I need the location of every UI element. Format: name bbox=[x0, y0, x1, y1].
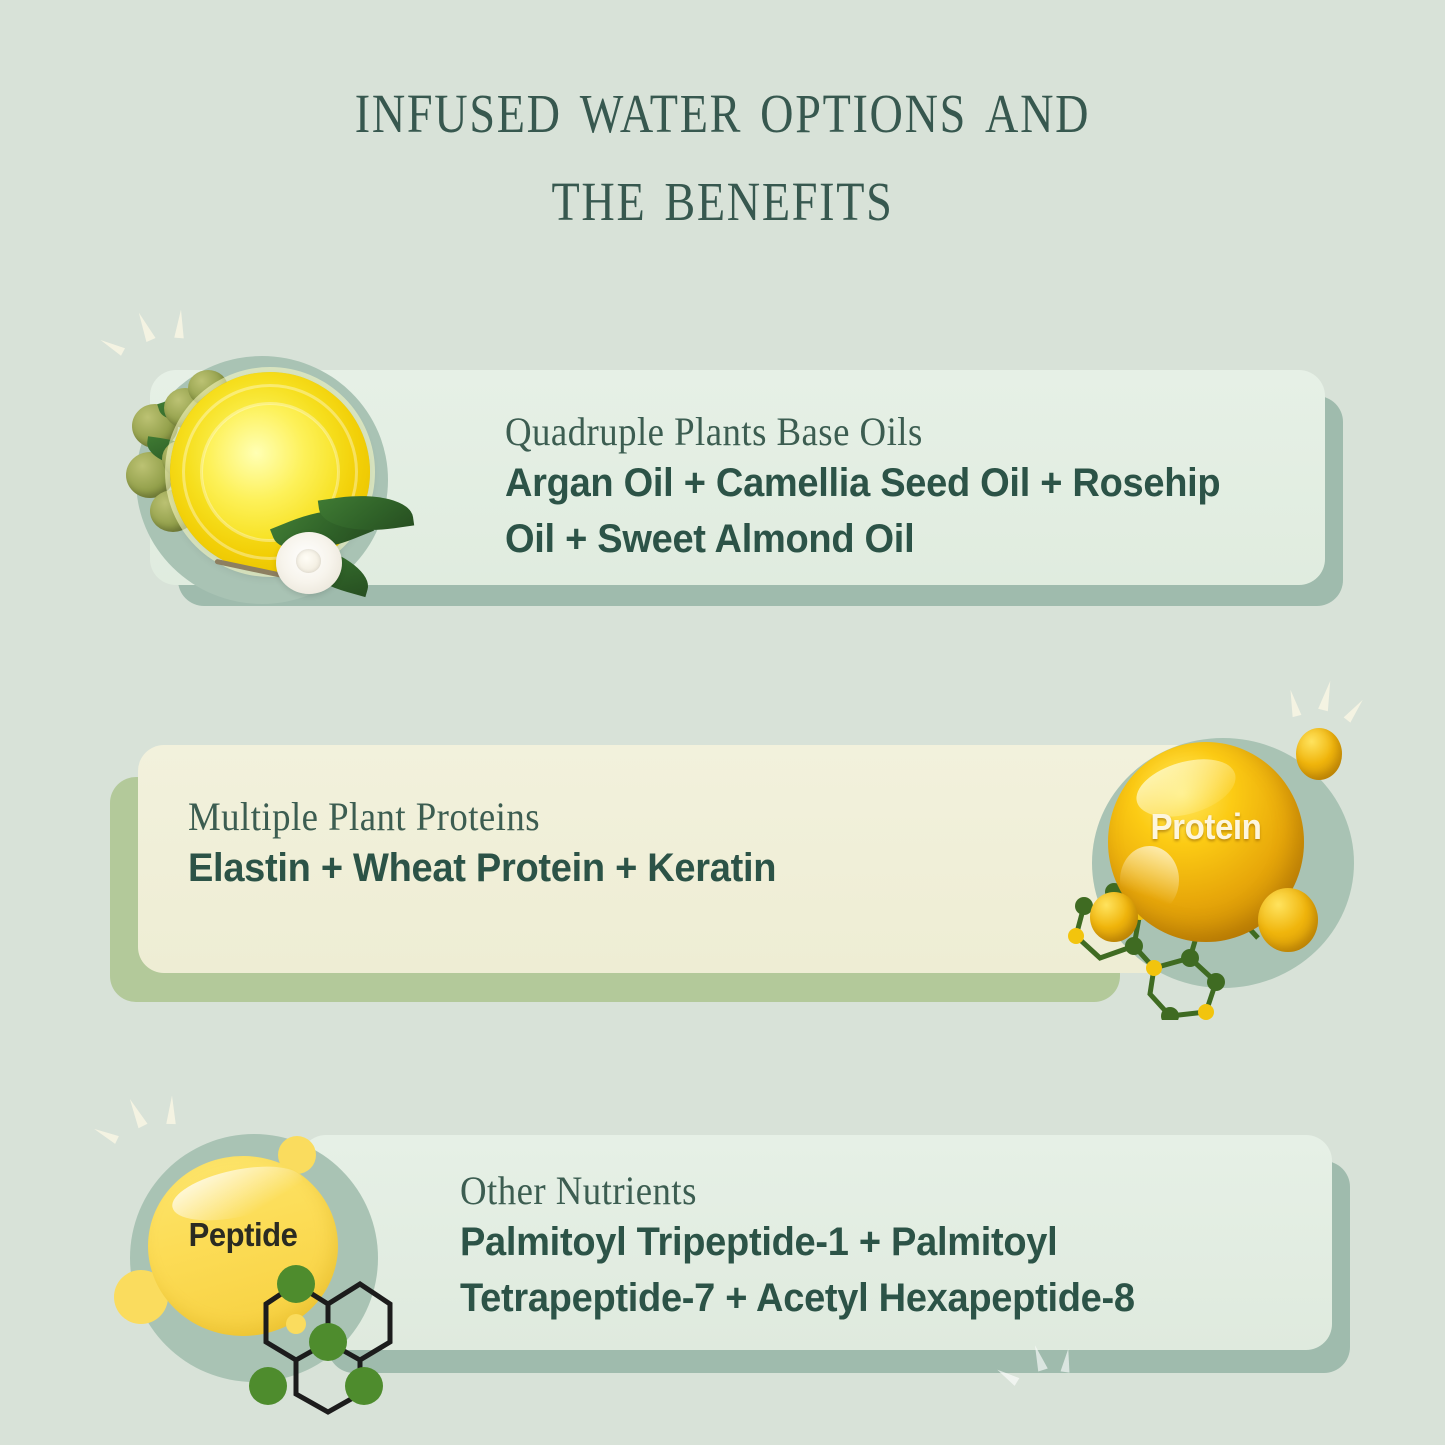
card-body: Elastin + Wheat Protein + Keratin bbox=[188, 840, 1043, 896]
card-body: Argan Oil + Camellia Seed Oil + Rosehip … bbox=[505, 455, 1265, 567]
card-body: Palmitoyl Tripeptide-1 + Palmitoyl Tetra… bbox=[460, 1214, 1258, 1326]
molecule-lattice-icon bbox=[238, 1260, 418, 1420]
card-multiple-plant-proteins: Multiple Plant Proteins Elastin + Wheat … bbox=[110, 745, 1160, 1020]
card-other-nutrients: Other Nutrients Palmitoyl Tripeptide-1 +… bbox=[300, 1135, 1360, 1375]
sparkle-icon bbox=[1008, 1340, 1088, 1396]
droplet-bead-icon bbox=[1090, 892, 1138, 942]
sparkle-icon bbox=[1292, 676, 1372, 736]
card-text-block: Multiple Plant Proteins Elastin + Wheat … bbox=[188, 793, 1088, 896]
card-text-block: Other Nutrients Palmitoyl Tripeptide-1 +… bbox=[460, 1167, 1300, 1326]
camellia-flower-icon bbox=[276, 532, 342, 594]
oil-bowl-graphic bbox=[108, 332, 408, 632]
peptide-label: Peptide bbox=[154, 1216, 333, 1254]
droplet-bead-icon bbox=[1258, 888, 1318, 952]
card-heading: Quadruple Plants Base Oils bbox=[505, 408, 1241, 455]
infographic-page: INFUSED WATER OPTIONS AND THE BENEFITS Q… bbox=[0, 0, 1445, 1445]
card-heading: Other Nutrients bbox=[460, 1167, 1233, 1214]
sparkle-icon bbox=[112, 1088, 192, 1148]
page-title: INFUSED WATER OPTIONS AND THE BENEFITS bbox=[116, 62, 1330, 238]
protein-label: Protein bbox=[1116, 806, 1296, 848]
card-heading: Multiple Plant Proteins bbox=[188, 793, 1016, 840]
card-text-block: Quadruple Plants Base Oils Argan Oil + C… bbox=[505, 408, 1305, 567]
protein-droplet-graphic: Protein bbox=[1070, 700, 1390, 1020]
sparkle-icon bbox=[118, 302, 198, 362]
